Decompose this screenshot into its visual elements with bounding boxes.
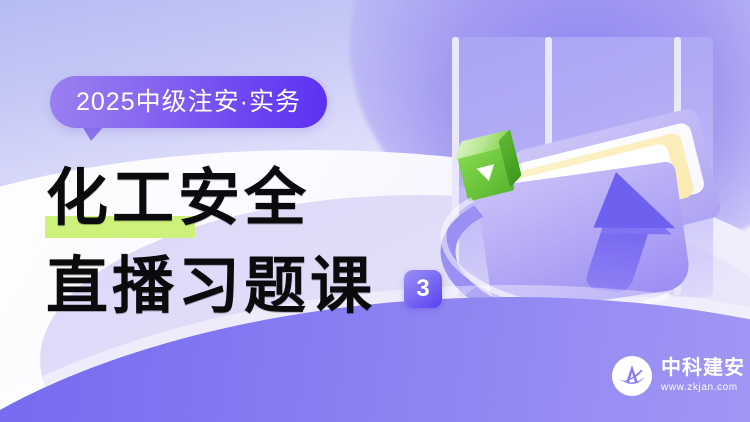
episode-number-badge: 3	[404, 270, 442, 308]
brand-logo-text: 中科建安 www.zkjan.com	[661, 358, 745, 394]
page-title-line-2: 直播习题课	[46, 256, 376, 318]
course-category-pill: 2025中级注安·实务	[50, 76, 327, 128]
course-category-label: 2025中级注安·实务	[76, 90, 301, 115]
brand-name: 中科建安	[661, 358, 745, 379]
episode-number-label: 3	[416, 277, 429, 301]
course-banner: 2025中级注安·实务 化工安全 直播习题课 3 中科建安 www.zkjan.…	[0, 0, 750, 422]
headline-block: 2025中级注安·实务 化工安全 直播习题课 3	[0, 0, 470, 422]
brand-logo: 中科建安 www.zkjan.com	[612, 356, 745, 396]
brand-url: www.zkjan.com	[661, 381, 745, 394]
pill-tail-icon	[82, 126, 104, 141]
zhongke-jianan-logo-icon	[612, 356, 652, 396]
page-title-line-1: 化工安全	[46, 168, 310, 230]
